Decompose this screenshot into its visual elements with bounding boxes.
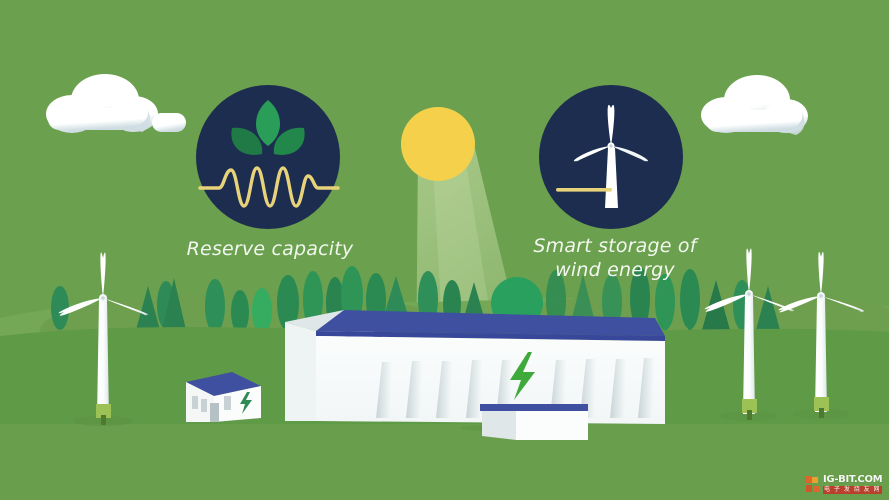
watermark-text: IG-BIT.COM 电 子 发 烧 友 网	[823, 475, 882, 494]
house-window	[192, 396, 198, 409]
label-smart-storage: Smart storage of wind energy	[495, 234, 735, 282]
dock-wall-front	[516, 411, 588, 440]
wind-turbine-icon[interactable]	[539, 85, 683, 229]
cloud-left-small	[152, 113, 186, 132]
watermark-subtitle: 电 子 发 烧 友 网	[823, 486, 882, 494]
leaf-waveform-icon[interactable]	[196, 85, 340, 229]
house-window	[201, 399, 207, 412]
house-door	[210, 403, 219, 422]
watermark-domain: IG-BIT.COM	[823, 475, 882, 485]
warehouse-gable-left-wall	[285, 322, 316, 421]
accent-bar	[556, 188, 612, 192]
dock-wall-left	[482, 411, 516, 440]
dock-roof	[480, 404, 588, 411]
watermark-logo-icon	[805, 476, 820, 493]
label-reserve-capacity: Reserve capacity	[150, 237, 390, 261]
sun	[401, 107, 475, 181]
site-watermark: IG-BIT.COM 电 子 发 烧 友 网	[805, 472, 883, 496]
house-window	[224, 396, 231, 410]
tree	[51, 286, 69, 330]
ground-foreground	[0, 424, 889, 500]
energy-storage-warehouse	[285, 310, 665, 440]
illustration-canvas	[0, 0, 889, 500]
